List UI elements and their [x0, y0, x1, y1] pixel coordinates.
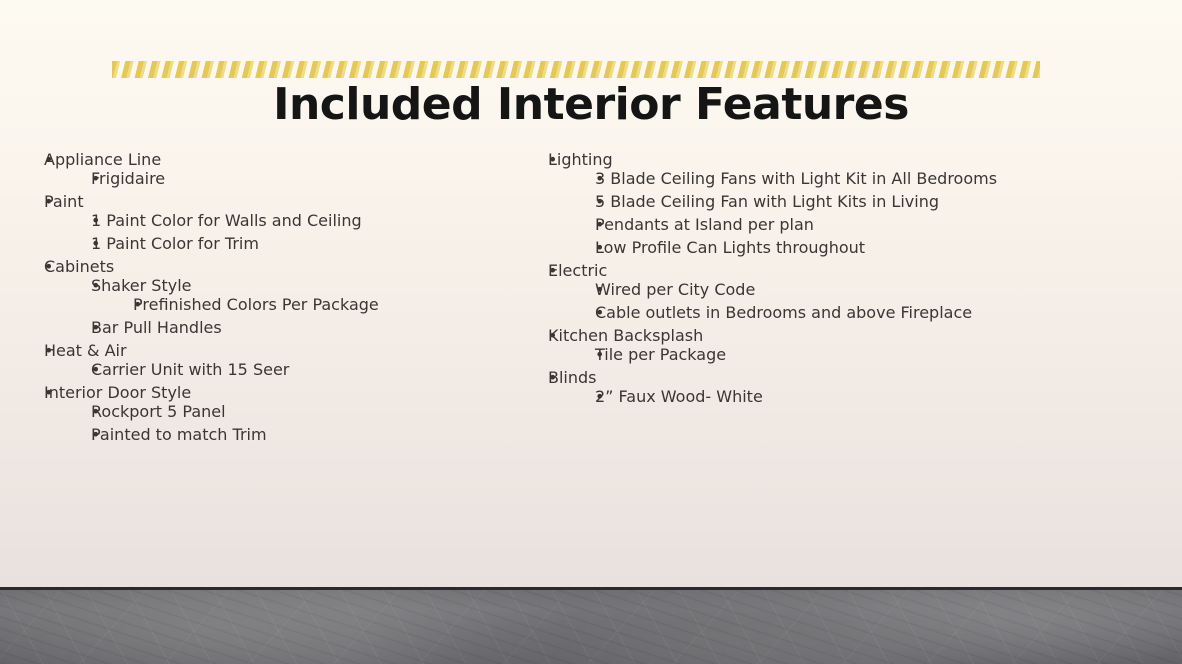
feature-label: Pendants at Island per plan — [595, 215, 814, 234]
feature-subitem: •Rockport 5 Panel — [91, 402, 544, 421]
feature-group: •Lighting•3 Blade Ceiling Fans with Ligh… — [548, 150, 1108, 257]
feature-subitem: •Cable outlets in Bedrooms and above Fir… — [595, 303, 1108, 322]
feature-subitem: •Painted to match Trim — [91, 425, 544, 444]
feature-group: •Bar Pull Handles — [91, 318, 544, 337]
feature-item: •Cabinets — [44, 257, 544, 276]
feature-subitem: •Bar Pull Handles — [91, 318, 544, 337]
bullet-icon: • — [91, 318, 100, 337]
bullet-icon: • — [595, 238, 604, 257]
feature-label: Heat & Air — [44, 341, 127, 360]
feature-label: Interior Door Style — [44, 383, 191, 402]
feature-sublist-level-2: •Rockport 5 Panel•Painted to match Trim — [91, 402, 544, 444]
feature-subitem: •Prefinished Colors Per Package — [133, 295, 544, 314]
feature-group: •Blinds•2” Faux Wood- White — [548, 368, 1108, 406]
feature-label: 3 Blade Ceiling Fans with Light Kit in A… — [595, 169, 997, 188]
bullet-icon: • — [595, 303, 604, 322]
bullet-icon: • — [548, 150, 557, 169]
feature-sublist-level-2: •Shaker Style•Prefinished Colors Per Pac… — [91, 276, 544, 337]
bullet-icon: • — [91, 169, 100, 188]
feature-group: •Carrier Unit with 15 Seer — [91, 360, 544, 379]
feature-column-left: •Appliance Line•Frigidaire•Paint•1 Paint… — [44, 150, 544, 448]
feature-label: Lighting — [548, 150, 613, 169]
bullet-icon: • — [548, 368, 557, 387]
feature-label: Prefinished Colors Per Package — [133, 295, 379, 314]
page-title: Included Interior Features — [0, 82, 1182, 128]
bullet-icon: • — [91, 276, 100, 295]
bullet-icon: • — [91, 360, 100, 379]
feature-label: Tile per Package — [595, 345, 726, 364]
feature-item: •Lighting — [548, 150, 1108, 169]
feature-label: Appliance Line — [44, 150, 161, 169]
feature-subitem: •Frigidaire — [91, 169, 544, 188]
feature-subitem: •Wired per City Code — [595, 280, 1108, 299]
feature-subitem: •1 Paint Color for Walls and Ceiling — [91, 211, 544, 230]
feature-group: •Wired per City Code — [595, 280, 1108, 299]
feature-group: •Frigidaire — [91, 169, 544, 188]
feature-group: •Appliance Line•Frigidaire — [44, 150, 544, 188]
feature-group: •Heat & Air•Carrier Unit with 15 Seer — [44, 341, 544, 379]
feature-item: •Blinds — [548, 368, 1108, 387]
bullet-icon: • — [91, 425, 100, 444]
bullet-icon: • — [91, 234, 100, 253]
feature-subitem: •1 Paint Color for Trim — [91, 234, 544, 253]
feature-label: Carrier Unit with 15 Seer — [91, 360, 289, 379]
feature-sublist-level-2: •2” Faux Wood- White — [595, 387, 1108, 406]
feature-subitem: •Shaker Style — [91, 276, 544, 295]
feature-column-right: •Lighting•3 Blade Ceiling Fans with Ligh… — [548, 150, 1108, 410]
feature-sublist-level-3: •Prefinished Colors Per Package — [133, 295, 544, 314]
bullet-icon: • — [133, 295, 142, 314]
bullet-icon: • — [595, 169, 604, 188]
feature-list-left: •Appliance Line•Frigidaire•Paint•1 Paint… — [44, 150, 544, 444]
feature-group: •Tile per Package — [595, 345, 1108, 364]
feature-sublist-level-2: •Tile per Package — [595, 345, 1108, 364]
feature-label: 1 Paint Color for Trim — [91, 234, 259, 253]
footer-stone-photo-band — [0, 587, 1182, 664]
bullet-icon: • — [595, 192, 604, 211]
feature-label: Rockport 5 Panel — [91, 402, 226, 421]
feature-item: •Appliance Line — [44, 150, 544, 169]
feature-group: •5 Blade Ceiling Fan with Light Kits in … — [595, 192, 1108, 211]
feature-group: •Electric•Wired per City Code•Cable outl… — [548, 261, 1108, 322]
feature-group: •1 Paint Color for Walls and Ceiling — [91, 211, 544, 230]
feature-list-right: •Lighting•3 Blade Ceiling Fans with Ligh… — [548, 150, 1108, 406]
feature-subitem: •5 Blade Ceiling Fan with Light Kits in … — [595, 192, 1108, 211]
feature-group: •Painted to match Trim — [91, 425, 544, 444]
feature-group: •Cable outlets in Bedrooms and above Fir… — [595, 303, 1108, 322]
decorative-stripe-rule — [112, 61, 1040, 78]
feature-item: •Electric — [548, 261, 1108, 280]
bullet-icon: • — [595, 280, 604, 299]
feature-label: Frigidaire — [91, 169, 165, 188]
photo-band-sheen — [0, 590, 1182, 664]
feature-label: Cable outlets in Bedrooms and above Fire… — [595, 303, 972, 322]
feature-label: 2” Faux Wood- White — [595, 387, 763, 406]
bullet-icon: • — [44, 150, 53, 169]
feature-label: Wired per City Code — [595, 280, 755, 299]
feature-sublist-level-2: •Frigidaire — [91, 169, 544, 188]
feature-group: •Pendants at Island per plan — [595, 215, 1108, 234]
feature-item: •Interior Door Style — [44, 383, 544, 402]
feature-group: •2” Faux Wood- White — [595, 387, 1108, 406]
feature-group: •Rockport 5 Panel — [91, 402, 544, 421]
feature-group: •Kitchen Backsplash•Tile per Package — [548, 326, 1108, 364]
feature-item: •Kitchen Backsplash — [548, 326, 1108, 345]
bullet-icon: • — [91, 211, 100, 230]
bullet-icon: • — [548, 261, 557, 280]
feature-subitem: •3 Blade Ceiling Fans with Light Kit in … — [595, 169, 1108, 188]
feature-item: •Paint — [44, 192, 544, 211]
feature-group: •Paint•1 Paint Color for Walls and Ceili… — [44, 192, 544, 253]
feature-group: •Prefinished Colors Per Package — [133, 295, 544, 314]
bullet-icon: • — [595, 345, 604, 364]
feature-sublist-level-2: •1 Paint Color for Walls and Ceiling•1 P… — [91, 211, 544, 253]
feature-subitem: •Pendants at Island per plan — [595, 215, 1108, 234]
feature-group: •Interior Door Style•Rockport 5 Panel•Pa… — [44, 383, 544, 444]
feature-sublist-level-2: •Wired per City Code•Cable outlets in Be… — [595, 280, 1108, 322]
feature-label: Painted to match Trim — [91, 425, 267, 444]
feature-group: •Cabinets•Shaker Style•Prefinished Color… — [44, 257, 544, 337]
feature-label: 5 Blade Ceiling Fan with Light Kits in L… — [595, 192, 939, 211]
bullet-icon: • — [595, 215, 604, 234]
feature-columns: •Appliance Line•Frigidaire•Paint•1 Paint… — [0, 150, 1182, 580]
bullet-icon: • — [44, 341, 53, 360]
feature-label: Cabinets — [44, 257, 114, 276]
feature-label: Bar Pull Handles — [91, 318, 222, 337]
slide-canvas: Included Interior Features •Appliance Li… — [0, 0, 1182, 664]
bullet-icon: • — [595, 387, 604, 406]
feature-item: •Heat & Air — [44, 341, 544, 360]
feature-subitem: •2” Faux Wood- White — [595, 387, 1108, 406]
feature-label: 1 Paint Color for Walls and Ceiling — [91, 211, 362, 230]
bullet-icon: • — [44, 257, 53, 276]
feature-label: Shaker Style — [91, 276, 192, 295]
feature-label: Kitchen Backsplash — [548, 326, 703, 345]
feature-subitem: •Carrier Unit with 15 Seer — [91, 360, 544, 379]
bullet-icon: • — [91, 402, 100, 421]
feature-group: •3 Blade Ceiling Fans with Light Kit in … — [595, 169, 1108, 188]
feature-label: Low Profile Can Lights throughout — [595, 238, 865, 257]
feature-group: •Shaker Style•Prefinished Colors Per Pac… — [91, 276, 544, 314]
bullet-icon: • — [548, 326, 557, 345]
feature-subitem: •Tile per Package — [595, 345, 1108, 364]
bullet-icon: • — [44, 383, 53, 402]
feature-group: •Low Profile Can Lights throughout — [595, 238, 1108, 257]
feature-group: •1 Paint Color for Trim — [91, 234, 544, 253]
feature-sublist-level-2: •3 Blade Ceiling Fans with Light Kit in … — [595, 169, 1108, 257]
bullet-icon: • — [44, 192, 53, 211]
feature-sublist-level-2: •Carrier Unit with 15 Seer — [91, 360, 544, 379]
feature-subitem: •Low Profile Can Lights throughout — [595, 238, 1108, 257]
